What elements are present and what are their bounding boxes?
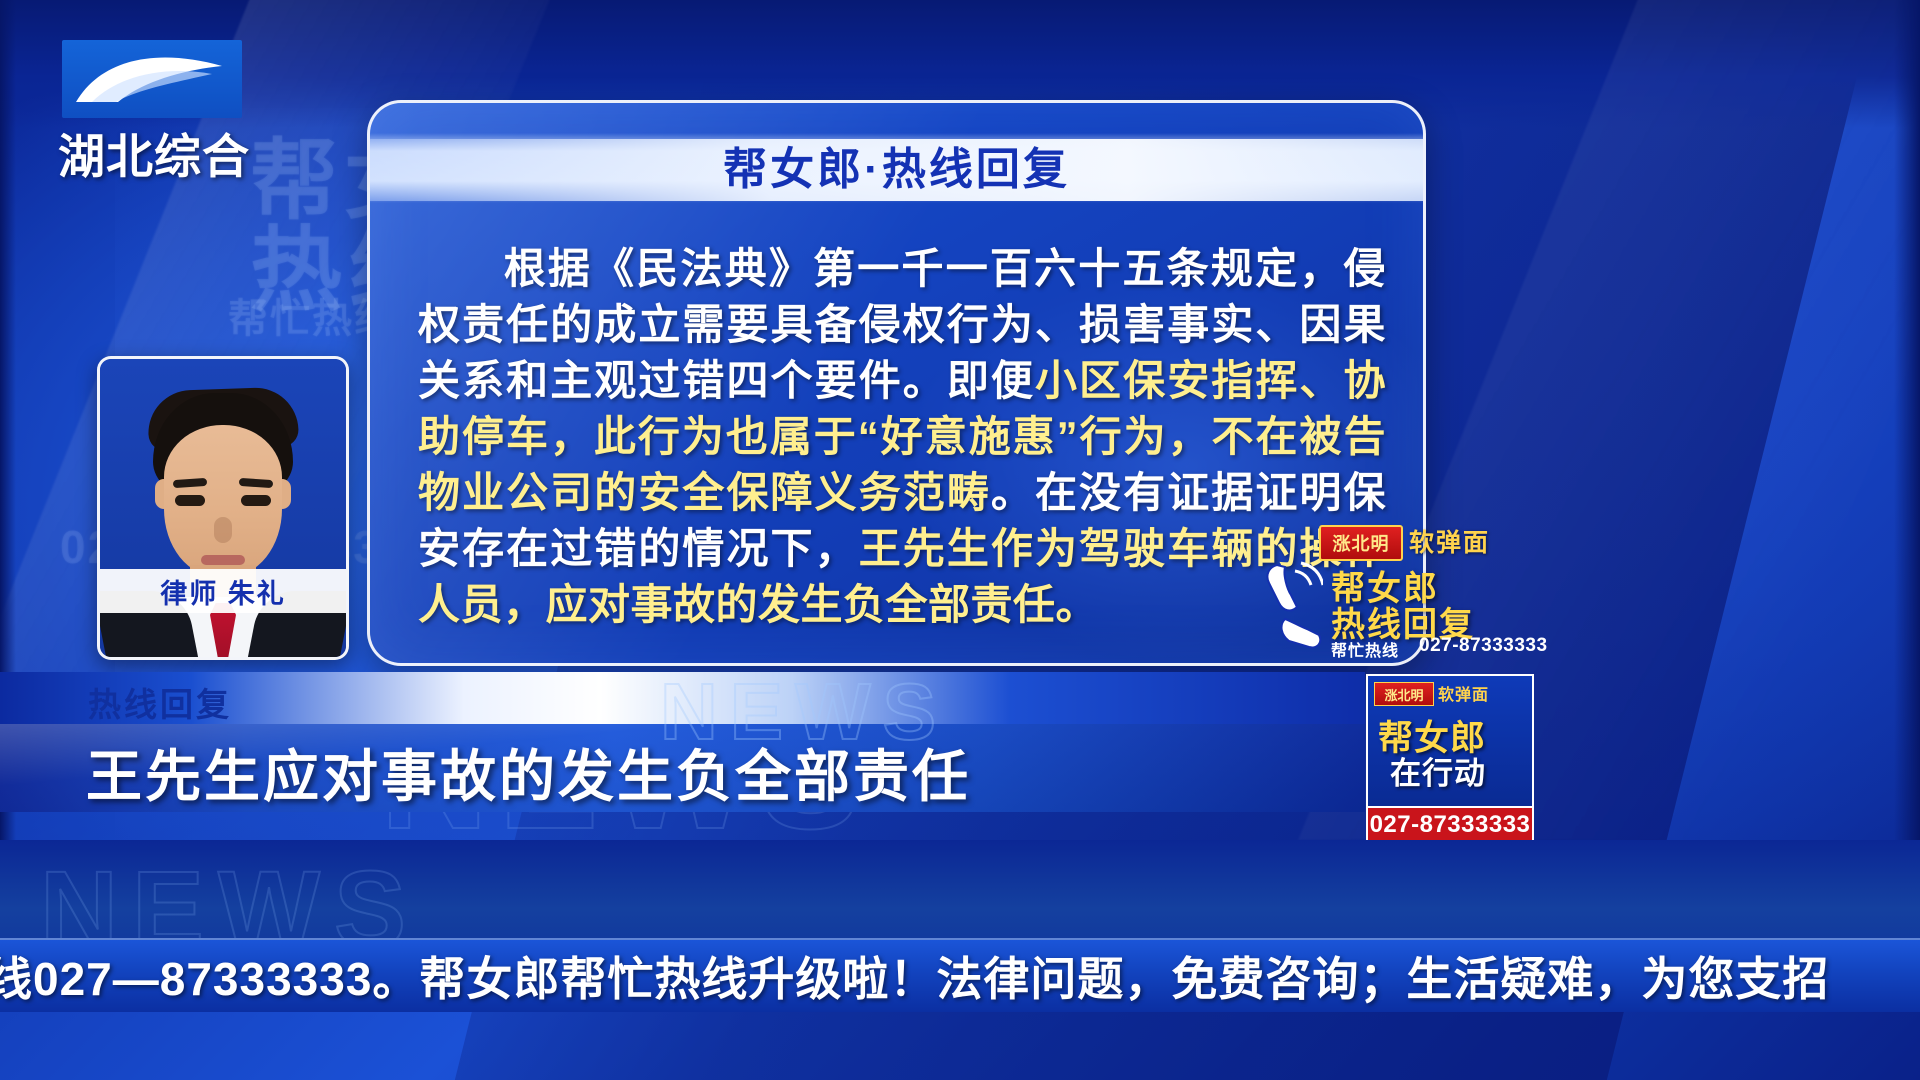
- station-logo: 湖北综合: [62, 40, 242, 175]
- swoosh-logo-icon: [72, 52, 230, 106]
- card-title: 帮女郎·热线回复: [370, 141, 1423, 199]
- eye-right: [241, 495, 271, 506]
- news-ticker[interactable]: 线027—87333333。帮女郎帮忙热线升级啦！法律问题，免费咨询；生活疑难，…: [0, 938, 1920, 1012]
- lower-third: 热线回复 NEWS 王先生应对事故的发生负全部责任: [0, 672, 1920, 812]
- station-name: 湖北综合: [58, 118, 258, 187]
- corner-program-badge: 涨北明 软弹面 帮女郎 在行动: [1366, 674, 1534, 812]
- program-logo: 涨北明 软弹面 帮女郎 热线回复 帮忙热线 027-87333333: [1243, 513, 1553, 663]
- telephone-handset-icon: [1261, 559, 1323, 651]
- guest-name-bar: 律师 朱礼: [100, 569, 346, 613]
- nose: [214, 517, 232, 543]
- ticker-region: NEWS 线027—87333333。帮女郎帮忙热线升级啦！法律问题，免费咨询；…: [0, 840, 1920, 1012]
- badge-title-line2: 在行动: [1390, 748, 1486, 793]
- broadcast-frame: 帮女郎 热线回复 帮忙热线 027-87333333 027-87333333 …: [0, 0, 1920, 1080]
- mouth: [201, 555, 245, 565]
- card-body-text: 根据《民法典》第一千一百六十五条规定，侵权责任的成立需要具备侵权行为、损害事实、…: [418, 241, 1386, 633]
- hotline-label: 帮忙热线: [1331, 637, 1399, 661]
- channel-tag-badge: 涨北明: [1319, 525, 1403, 561]
- lower-third-headline: 王先生应对事故的发生负全部责任: [86, 732, 971, 813]
- ticker-text: 线027—87333333。帮女郎帮忙热线升级啦！法律问题，免费咨询；生活疑难，…: [0, 943, 1829, 1009]
- lower-third-kicker: 热线回复: [88, 678, 232, 726]
- badge-phone-number: 027-87333333: [1366, 806, 1534, 844]
- badge-channel-tag: 涨北明: [1374, 682, 1434, 706]
- badge-brand-right: 软弹面: [1438, 681, 1489, 705]
- station-logo-mark: [62, 40, 242, 118]
- program-brand-right: 软弹面: [1409, 523, 1490, 559]
- eye-left: [175, 495, 205, 506]
- guest-name: 律师 朱礼: [160, 572, 286, 611]
- guest-photo-frame: 律师 朱礼: [97, 356, 349, 660]
- hotline-number: 027-87333333: [1419, 635, 1548, 657]
